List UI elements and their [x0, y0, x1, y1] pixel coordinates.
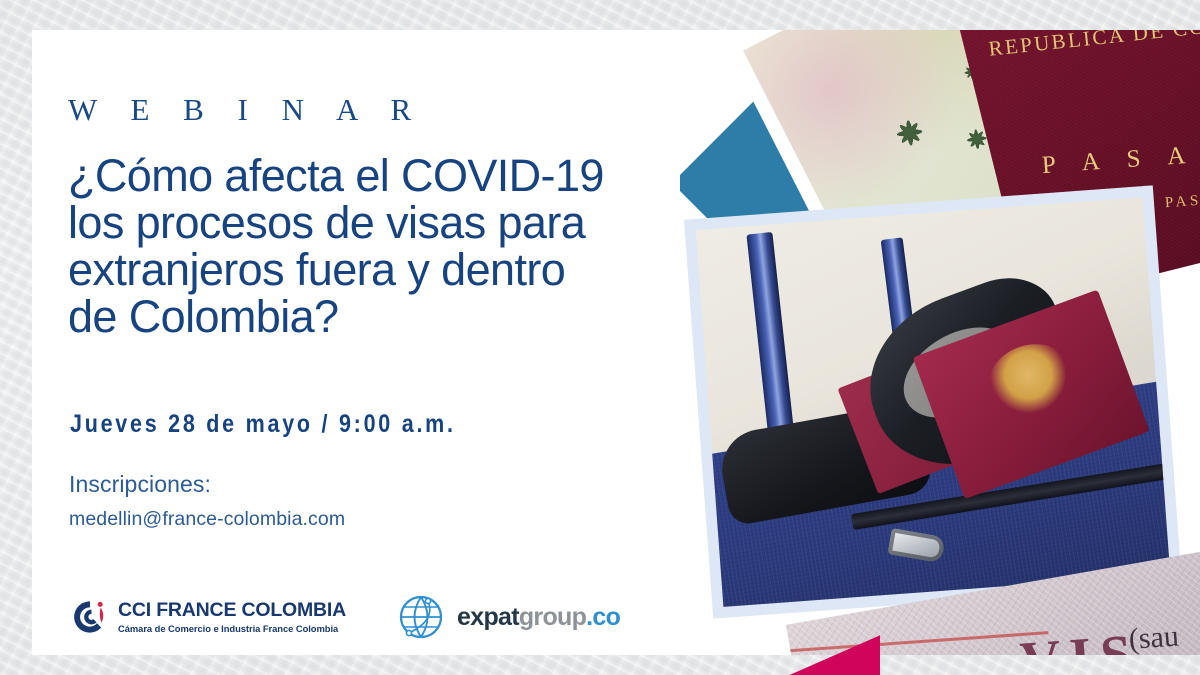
suitcase-photo [684, 185, 1182, 618]
registration-label: Inscripciones: [69, 471, 211, 498]
passport-title-es: P A S A P O R T E [1041, 126, 1200, 180]
logo-row: CCI FRANCE COLOMBIA Cámara de Comercio e… [70, 582, 620, 652]
expat-logo-text: expatgroup.co [457, 603, 620, 632]
page-title: ¿Cómo afecta el COVID-19 los procesos de… [68, 152, 708, 340]
webinar-poster: REPUBLICA DE COLOM P A S A P O R T E PAS… [0, 0, 1200, 675]
suitcase-handle-bar [746, 231, 796, 452]
visa-sub-text: (sau [1128, 619, 1180, 655]
suitcase-photo-image [696, 197, 1170, 607]
expat-group-logo: expatgroup.co [398, 594, 620, 640]
headline-line-2: los procesos de visas para [68, 199, 708, 246]
cci-france-colombia-logo: CCI FRANCE COLOMBIA Cámara de Comercio e… [70, 598, 346, 636]
passport-country-text: REPUBLICA DE COLOM [987, 30, 1200, 62]
registration-email[interactable]: medellin@france-colombia.com [69, 508, 345, 531]
photo-collage: REPUBLICA DE COLOM P A S A P O R T E PAS… [680, 30, 1200, 655]
cci-logo-subtitle: Cámara de Comercio e Industria France Co… [118, 624, 346, 633]
headline-line-4: de Colombia? [68, 293, 708, 340]
eyebrow-webinar-label: W E B I N A R [68, 92, 424, 128]
expat-logo-part-three: .co [586, 603, 620, 631]
palm-tree-icon [871, 94, 949, 172]
cci-logo-text: CCI FRANCE COLOMBIA Cámara de Comercio e… [118, 601, 346, 634]
text-column: W E B I N A R ¿Cómo afecta el COVID-19 l… [68, 30, 728, 655]
globe-icon [398, 594, 444, 640]
event-datetime: Jueves 28 de mayo / 9:00 a.m. [70, 410, 456, 439]
expat-logo-part-two: group [519, 603, 586, 631]
cci-monogram-icon [70, 598, 110, 636]
headline-line-3: extranjeros fuera y dentro [68, 246, 708, 293]
white-content-panel: REPUBLICA DE COLOM P A S A P O R T E PAS… [32, 30, 1200, 655]
expat-logo-part-one: expat [457, 603, 519, 631]
headline-line-1: ¿Cómo afecta el COVID-19 [68, 152, 708, 199]
cci-logo-title: CCI FRANCE COLOMBIA [118, 601, 346, 621]
